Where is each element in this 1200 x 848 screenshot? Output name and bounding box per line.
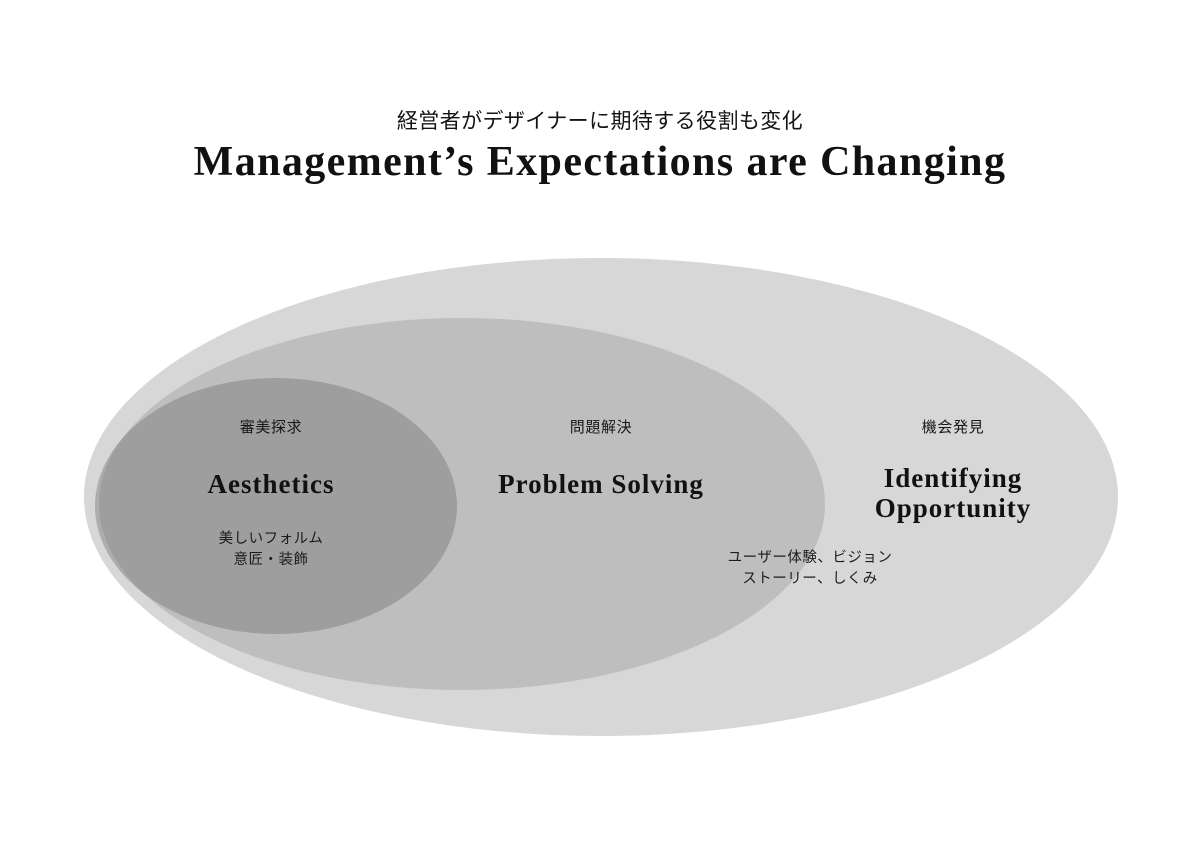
slide-canvas: 経営者がデザイナーに期待する役割も変化 Management’s Expecta… (0, 0, 1200, 848)
region-detail-line1-aesthetics: 美しいフォルム (161, 529, 381, 550)
region-label-ja-identifying-opportunity: 機会発見 (853, 418, 1053, 437)
region-detail-line2-aesthetics: 意匠・装飾 (161, 550, 381, 571)
region-label-en-aesthetics: Aesthetics (161, 469, 381, 499)
region-label-identifying-opportunity: 機会発見 Identifying Opportunity (853, 418, 1053, 523)
region-label-en-problem-solving: Problem Solving (478, 469, 724, 499)
region-label-aesthetics: 審美探求 Aesthetics 美しいフォルム 意匠・装飾 (161, 418, 381, 571)
region-label-ja-aesthetics: 審美探求 (161, 418, 381, 437)
region-label-en-line1-identifying-opportunity: Identifying (853, 463, 1053, 493)
region-detail-problem-solving: ユーザー体験、ビジョン ストーリー、しくみ (700, 548, 920, 590)
region-label-en-line2-identifying-opportunity: Opportunity (853, 493, 1053, 523)
region-detail-line1-problem-solving: ユーザー体験、ビジョン (700, 548, 920, 569)
region-detail-aesthetics: 美しいフォルム 意匠・装飾 (161, 529, 381, 571)
region-detail-text-problem-solving: ユーザー体験、ビジョン ストーリー、しくみ (700, 548, 920, 590)
region-label-ja-problem-solving: 問題解決 (478, 418, 724, 437)
region-detail-line2-problem-solving: ストーリー、しくみ (700, 569, 920, 590)
region-label-problem-solving: 問題解決 Problem Solving (478, 418, 724, 499)
region-label-en-identifying-opportunity: Identifying Opportunity (853, 463, 1053, 523)
